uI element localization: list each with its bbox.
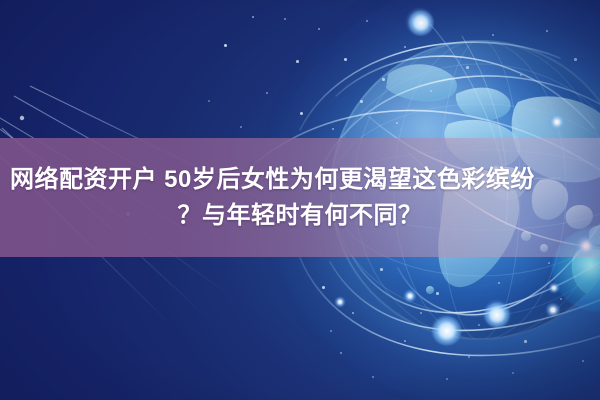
banner-image: 网络配资开户 50岁后女性为何更渴望这色彩缤纷 ？与年轻时有何不同？	[0, 0, 600, 400]
headline-line-1: 网络配资开户 50岁后女性为何更渴望这色彩缤纷	[6, 162, 594, 198]
headline-line-2: ？与年轻时有何不同？	[6, 198, 594, 234]
headline-block: 网络配资开户 50岁后女性为何更渴望这色彩缤纷 ？与年轻时有何不同？	[0, 138, 600, 257]
